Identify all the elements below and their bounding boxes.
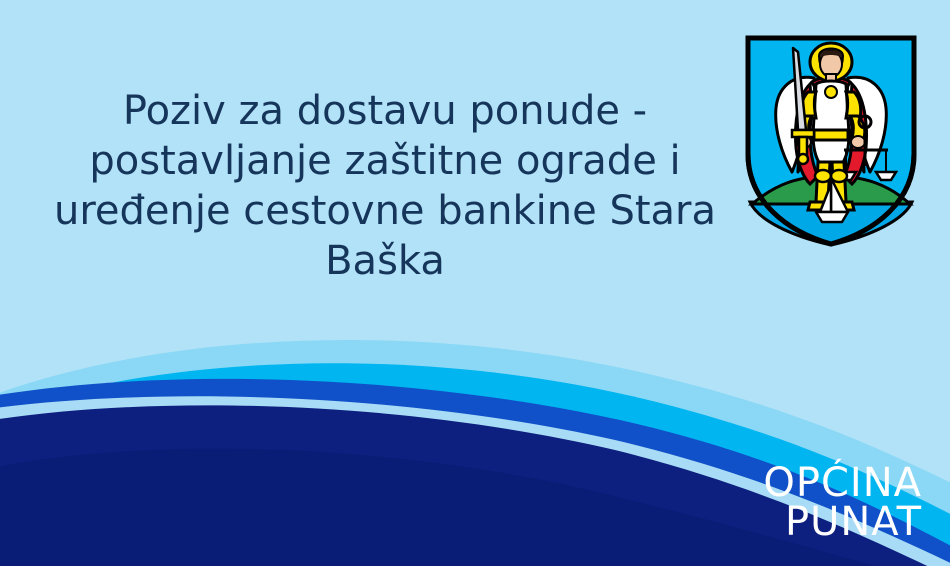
page-title: Poziv za dostavu ponude - postavljanje z… — [40, 86, 730, 286]
wordmark-line-punat: PUNAT — [763, 503, 922, 542]
boat-hull — [816, 212, 848, 222]
knee-left — [815, 170, 831, 182]
brooch — [825, 86, 837, 98]
coat-of-arms-icon — [736, 26, 926, 254]
sword-grip — [799, 137, 807, 155]
scales-pan-right — [876, 172, 896, 180]
pauldron-right — [846, 92, 861, 118]
municipality-wordmark: OPĆINA PUNAT — [763, 464, 922, 542]
announcement-banner: Poziv za dostavu ponude - postavljanje z… — [0, 0, 950, 566]
belt — [814, 130, 848, 140]
wordmark-line-opcina: OPĆINA — [763, 464, 922, 503]
hand-right — [851, 136, 865, 148]
sword-pommel — [798, 154, 808, 164]
